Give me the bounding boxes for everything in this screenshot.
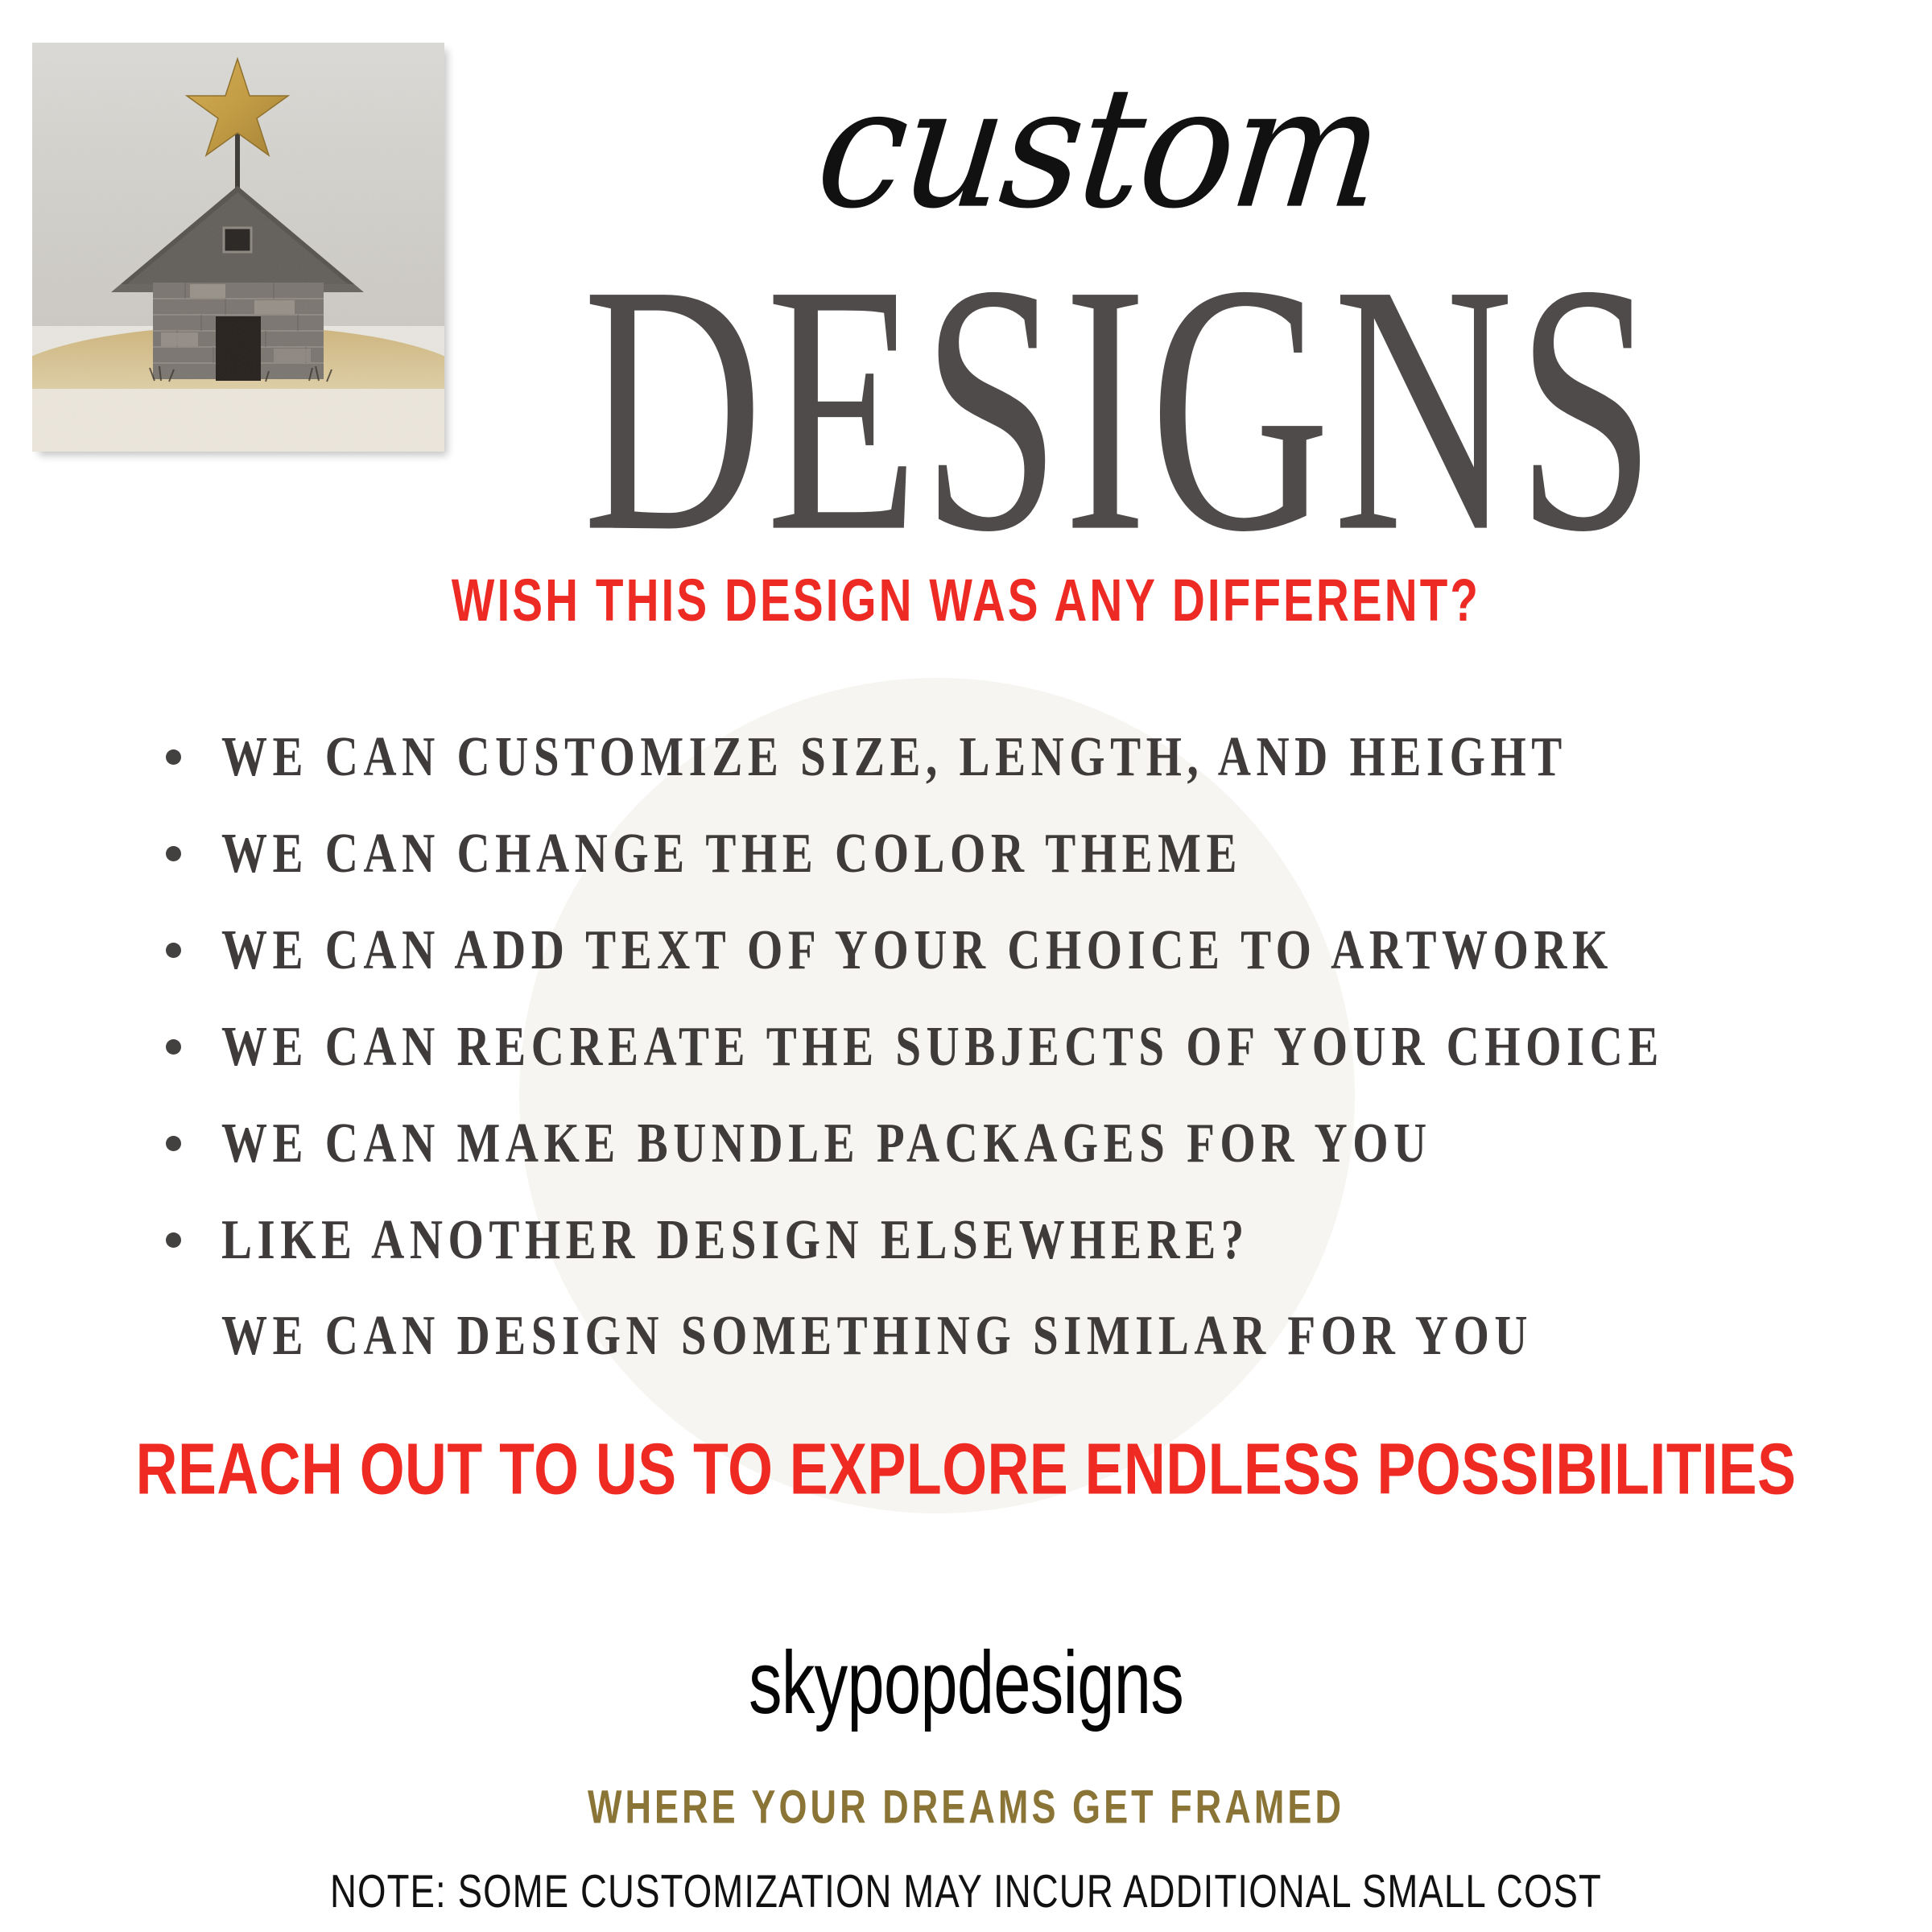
- bullet-dot-icon: [166, 1039, 181, 1055]
- bullet-dot-icon: [166, 749, 181, 765]
- list-item-label: WE CAN ADD TEXT OF YOUR CHOICE TO ARTWOR…: [221, 918, 1613, 981]
- list-item: WE CAN RECREATE THE SUBJECTS OF YOUR CHO…: [158, 998, 1864, 1095]
- list-item-label: WE CAN RECREATE THE SUBJECTS OF YOUR CHO…: [221, 1014, 1664, 1078]
- list-item-label: WE CAN MAKE BUNDLE PACKAGES FOR YOU: [221, 1111, 1432, 1174]
- product-thumbnail-image[interactable]: [32, 43, 444, 452]
- brand-logo-wordmark: skypopdesigns: [193, 1633, 1739, 1734]
- subtitle-question: WISH THIS DESIGN WAS ANY DIFFERENT?: [39, 567, 1893, 635]
- call-to-action-text: REACH OUT TO US TO EXPLORE ENDLESS POSSI…: [29, 1427, 1903, 1511]
- headline-script-word: custom: [362, 72, 1835, 225]
- feature-bullet-list: WE CAN CUSTOMIZE SIZE, LENGTH, AND HEIGH…: [158, 708, 1864, 1383]
- list-item: WE CAN MAKE BUNDLE PACKAGES FOR YOU: [158, 1095, 1864, 1191]
- list-item-continuation: WE CAN DESIGN SOMETHING SIMILAR FOR YOU: [158, 1288, 1864, 1383]
- list-item-label: WE CAN DESIGN SOMETHING SIMILAR FOR YOU: [221, 1303, 1533, 1367]
- disclaimer-note: NOTE: SOME CUSTOMIZATION MAY INCUR ADDIT…: [68, 1865, 1864, 1918]
- headline-block: custom DESIGNS: [451, 80, 1819, 485]
- bullet-dot-icon: [166, 1136, 181, 1151]
- list-item: WE CAN ADD TEXT OF YOUR CHOICE TO ARTWOR…: [158, 902, 1864, 998]
- list-item-label: WE CAN CUSTOMIZE SIZE, LENGTH, AND HEIGH…: [221, 724, 1567, 788]
- page-title: DESIGNS: [464, 256, 1777, 562]
- list-item-label: LIKE ANOTHER DESIGN ELSEWHERE?: [221, 1207, 1249, 1271]
- poster-canvas: custom DESIGNS WISH THIS DESIGN WAS ANY …: [0, 0, 1932, 1932]
- brand-tagline: WHERE YOUR DREAMS GET FRAMED: [97, 1780, 1835, 1834]
- list-item: WE CAN CUSTOMIZE SIZE, LENGTH, AND HEIGH…: [158, 708, 1864, 805]
- barn-painting-artwork: [32, 43, 444, 452]
- bullet-dot-icon: [166, 943, 181, 958]
- bullet-dot-icon: [166, 1232, 181, 1248]
- list-item-label: WE CAN CHANGE THE COLOR THEME: [221, 821, 1242, 885]
- list-item: LIKE ANOTHER DESIGN ELSEWHERE?: [158, 1191, 1864, 1288]
- bullet-dot-icon: [166, 846, 181, 861]
- list-item: WE CAN CHANGE THE COLOR THEME: [158, 805, 1864, 902]
